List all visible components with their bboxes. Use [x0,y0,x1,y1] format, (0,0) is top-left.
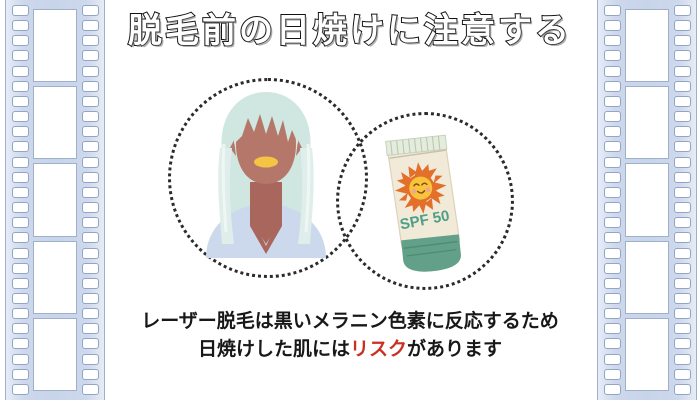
film-sprocket-hole [82,308,99,319]
film-sprocket-hole [12,187,29,198]
film-sprocket-hole [12,308,29,319]
film-frame [625,9,669,82]
film-sprocket-hole [674,50,691,61]
film-sprocket-hole [674,278,691,289]
film-sprocket-hole [82,293,99,304]
poster-canvas: 脱毛前の日焼けに注意する [0,0,700,400]
film-sprocket-hole [82,248,99,259]
film-sprocket-hole [674,263,691,274]
film-sprocket-hole [604,293,621,304]
film-sprocket-hole [604,338,621,349]
film-sprocket-hole [604,157,621,168]
film-sprocket-hole [12,35,29,46]
film-sprocket-hole [674,141,691,152]
poster-title: 脱毛前の日焼けに注意する [100,12,600,51]
film-sprocket-hole [674,384,691,395]
film-sprocket-hole [12,81,29,92]
film-sprocket-hole [82,202,99,213]
poster-caption: レーザー脱毛は黒いメラニン色素に反応するため 日焼けした肌にはリスクがあります [100,308,600,363]
film-sprocket-hole [604,66,621,77]
film-sprocket-hole [82,5,99,16]
film-sprocket-hole [674,66,691,77]
film-sprocket-hole [604,187,621,198]
film-sprocket-hole [12,20,29,31]
filmstrip-left [5,0,105,400]
film-sprocket-hole [82,20,99,31]
film-sprocket-hole [604,126,621,137]
filmstrip-left-frames [33,7,77,393]
film-sprocket-hole [604,263,621,274]
caption-line-2: 日焼けした肌にはリスクがあります [100,336,600,364]
film-sprocket-hole [604,369,621,380]
film-sprocket-hole [82,66,99,77]
film-sprocket-hole [82,141,99,152]
film-frame [33,86,77,159]
film-sprocket-hole [12,248,29,259]
film-sprocket-hole [674,354,691,365]
film-sprocket-hole [12,354,29,365]
film-sprocket-hole [604,81,621,92]
film-sprocket-hole [674,187,691,198]
film-sprocket-hole [82,126,99,137]
filmstrip-right-sprockets-inner [671,2,693,398]
filmstrip-left-sprockets-outer [9,2,31,398]
caption-accent-risk: リスク [350,339,407,360]
film-sprocket-hole [12,5,29,16]
film-sprocket-hole [12,232,29,243]
film-frame [33,9,77,82]
film-sprocket-hole [12,66,29,77]
film-sprocket-hole [82,81,99,92]
film-sprocket-hole [82,354,99,365]
film-sprocket-hole [674,248,691,259]
film-frame [33,163,77,236]
film-sprocket-hole [674,202,691,213]
film-sprocket-hole [12,263,29,274]
sunscreen-illustration: SPF 50 [363,126,481,274]
film-sprocket-hole [82,111,99,122]
caption-line-1: レーザー脱毛は黒いメラニン色素に反応するため [100,308,600,336]
film-sprocket-hole [674,111,691,122]
film-sprocket-hole [12,111,29,122]
film-frame [625,318,669,391]
film-sprocket-hole [82,232,99,243]
film-sprocket-hole [674,323,691,334]
film-sprocket-hole [12,217,29,228]
film-sprocket-hole [82,369,99,380]
film-sprocket-hole [604,278,621,289]
film-sprocket-hole [674,20,691,31]
film-sprocket-hole [674,293,691,304]
film-sprocket-hole [604,172,621,183]
film-sprocket-hole [604,217,621,228]
film-sprocket-hole [604,141,621,152]
film-sprocket-hole [12,50,29,61]
film-sprocket-hole [604,5,621,16]
film-sprocket-hole [12,126,29,137]
filmstrip-right-frames [625,7,669,393]
film-sprocket-hole [674,126,691,137]
film-sprocket-hole [82,50,99,61]
film-sprocket-hole [82,172,99,183]
film-sprocket-hole [604,323,621,334]
film-frame [33,318,77,391]
film-sprocket-hole [674,338,691,349]
woman-illustration [186,86,346,258]
film-sprocket-hole [82,96,99,107]
film-sprocket-hole [604,308,621,319]
film-sprocket-hole [12,293,29,304]
film-sprocket-hole [82,278,99,289]
film-sprocket-hole [82,338,99,349]
film-sprocket-hole [82,217,99,228]
film-sprocket-hole [82,323,99,334]
caption-line-2-prefix: 日焼けした肌には [198,339,350,360]
film-sprocket-hole [12,278,29,289]
film-sprocket-hole [12,96,29,107]
film-sprocket-hole [674,172,691,183]
filmstrip-right-sprockets-outer [601,2,623,398]
film-sprocket-hole [604,202,621,213]
film-sprocket-hole [674,96,691,107]
caption-line-2-suffix: があります [407,339,502,360]
film-sprocket-hole [674,157,691,168]
film-sprocket-hole [82,263,99,274]
film-sprocket-hole [12,202,29,213]
film-sprocket-hole [82,157,99,168]
film-sprocket-hole [12,338,29,349]
film-sprocket-hole [674,35,691,46]
film-frame [33,241,77,314]
film-sprocket-hole [12,369,29,380]
film-sprocket-hole [604,354,621,365]
film-sprocket-hole [604,248,621,259]
film-sprocket-hole [604,96,621,107]
film-frame [625,86,669,159]
filmstrip-right [597,0,697,400]
film-sprocket-hole [674,217,691,228]
film-sprocket-hole [674,5,691,16]
film-sprocket-hole [82,35,99,46]
film-sprocket-hole [604,111,621,122]
film-sprocket-hole [674,232,691,243]
film-sprocket-hole [604,20,621,31]
film-sprocket-hole [674,308,691,319]
film-sprocket-hole [674,81,691,92]
film-sprocket-hole [12,384,29,395]
film-sprocket-hole [604,232,621,243]
film-sprocket-hole [82,384,99,395]
film-frame [625,163,669,236]
filmstrip-left-sprockets-inner [79,2,101,398]
film-sprocket-hole [82,187,99,198]
film-sprocket-hole [604,35,621,46]
film-sprocket-hole [12,157,29,168]
film-sprocket-hole [12,172,29,183]
film-sprocket-hole [12,323,29,334]
film-sprocket-hole [12,141,29,152]
film-sprocket-hole [604,384,621,395]
film-frame [625,241,669,314]
film-sprocket-hole [674,369,691,380]
film-sprocket-hole [604,50,621,61]
